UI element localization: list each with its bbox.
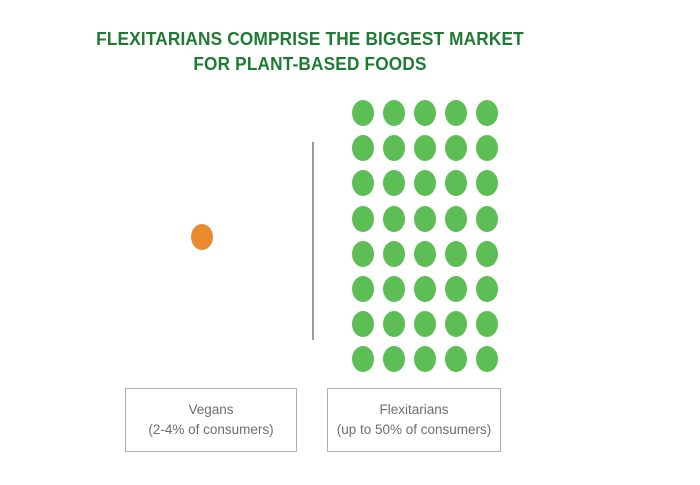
flexitarians-dot [352,135,374,161]
flexitarians-dot [414,241,436,267]
flexitarians-dot [352,346,374,372]
flexitarians-dot [476,206,498,232]
flexitarians-dot [383,206,405,232]
legend-box-vegans: Vegans (2-4% of consumers) [125,388,297,452]
flexitarians-dot [476,170,498,196]
legend-sublabel-vegans: (2-4% of consumers) [148,420,273,440]
infographic-canvas: FLEXITARIANS COMPRISE THE BIGGEST MARKET… [0,0,700,485]
flexitarians-dot [414,276,436,302]
flexitarians-dot [445,241,467,267]
flexitarians-dot [352,311,374,337]
flexitarians-dot [414,346,436,372]
vegans-dot [191,224,213,250]
flexitarians-dot [445,206,467,232]
flexitarians-dot [414,206,436,232]
flexitarians-dot [476,346,498,372]
legend-sublabel-flexitarians: (up to 50% of consumers) [337,420,492,440]
flexitarians-dot [414,135,436,161]
flexitarians-dot [445,135,467,161]
flexitarians-dot [352,100,374,126]
flexitarians-dot [445,346,467,372]
flexitarians-dot [414,100,436,126]
group-divider-line [312,142,314,340]
flexitarians-dot [445,276,467,302]
legend-label-vegans: Vegans [188,400,233,420]
flexitarians-dot [476,241,498,267]
flexitarians-dot [383,346,405,372]
flexitarians-dot [445,100,467,126]
flexitarians-dot [383,241,405,267]
flexitarians-dot [445,170,467,196]
flexitarians-dot [476,135,498,161]
flexitarians-dot [414,311,436,337]
flexitarians-dot [383,276,405,302]
flexitarians-dot [476,276,498,302]
vegans-dot-group [125,100,297,372]
flexitarians-dot [352,206,374,232]
flexitarians-dot [445,311,467,337]
legend-label-flexitarians: Flexitarians [379,400,448,420]
flexitarians-dot [476,311,498,337]
flexitarians-dot [414,170,436,196]
flexitarians-dot [476,100,498,126]
flexitarians-dot [383,100,405,126]
flexitarians-dot [383,170,405,196]
flexitarians-dot [352,276,374,302]
flexitarians-dot [383,311,405,337]
flexitarians-dot [383,135,405,161]
flexitarians-dot [352,241,374,267]
flexitarians-dot [352,170,374,196]
legend-box-flexitarians: Flexitarians (up to 50% of consumers) [327,388,501,452]
flexitarians-dot-group [352,100,498,372]
